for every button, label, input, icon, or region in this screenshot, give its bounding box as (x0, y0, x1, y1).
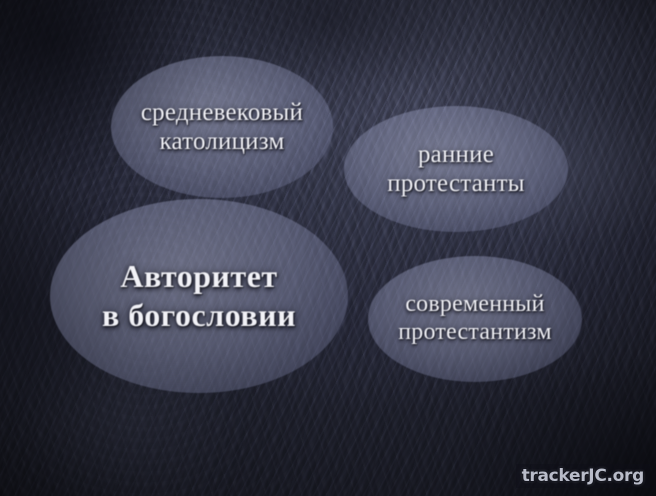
diagram-node-early-protestants: ранние протестанты (344, 106, 568, 232)
diagram-node-medieval-catholicism: средневековый католицизм (111, 56, 333, 198)
diagram-node-label: средневековый католицизм (141, 98, 303, 156)
slide-canvas: средневековый католицизм ранние протеста… (0, 0, 656, 496)
diagram-node-authority-in-theology: Авторитет в богословии (50, 199, 348, 393)
diagram-node-label: ранние протестанты (387, 140, 524, 198)
watermark: trackerJC.org (516, 464, 650, 488)
diagram-node-label: Авторитет в богословии (102, 257, 296, 335)
diagram-node-modern-protestantism: современный протестантизм (368, 256, 582, 382)
diagram-node-label: современный протестантизм (398, 291, 551, 347)
